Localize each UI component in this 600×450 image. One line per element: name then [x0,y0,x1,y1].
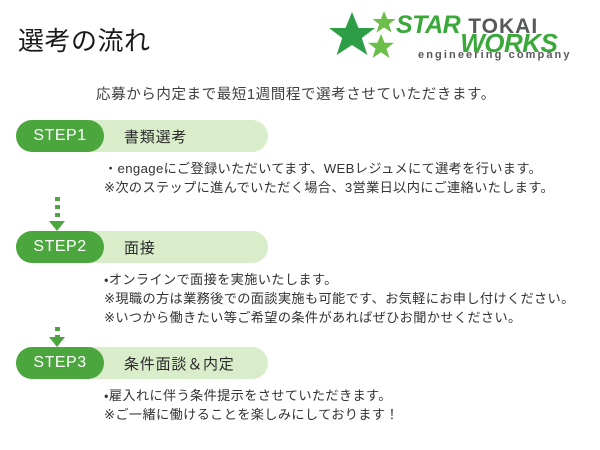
page-header: 選考の流れ STARTOKAI STARWORKS engineering co… [0,0,600,78]
company-logo: STARTOKAI STARWORKS engineering company [326,6,594,66]
step-block-3: STEP3 条件面談＆内定 ・雇入れに伴う条件提示をさせていただきます。 ※ご一… [0,347,600,424]
step-description-line: ※現職の方は業務後での面談実施も可能です、お気軽にお申し付けください。 [104,289,600,308]
logo-tagline: engineering company [418,49,572,61]
step-description-line: ・engageにご登録いただいてます、WEBレジュメにて選考を行います。 [104,159,600,178]
page-subtitle: 応募から内定まで最短1週間程で選考させていただきます。 [96,83,496,104]
star-small-top-icon [373,11,396,33]
connector-arrow-icon [49,337,65,347]
connector-dashed-line [55,197,60,223]
logo-stars-icon [328,10,400,62]
step-description-line: ※ご一緒に働けることを楽しみにしております！ [104,405,600,424]
step-title-1: 書類選考 [124,120,187,152]
step-title-2: 面接 [124,231,156,263]
step-description-line: ※いつから働きたい等ご希望の条件があればぜひお聞かせください。 [104,308,600,327]
step-connector-2-3 [16,327,600,347]
step-badge-3: STEP3 [16,347,104,379]
page-title: 選考の流れ [18,26,151,57]
step-description-line: ・オンラインで面接を実施いたします。 [104,270,600,289]
step-description-line: ※次のステップに進んでいただく場合、3営業日以内にご連絡いたします。 [104,178,600,197]
step-description-line: ・雇入れに伴う条件提示をさせていただきます。 [104,386,600,405]
selection-flow-steps: STEP1 書類選考 ・engageにご登録いただいてます、WEBレジュメにて選… [0,120,600,424]
star-large-icon [329,12,375,55]
step-badge-1: STEP1 [16,120,104,152]
star-small-bottom-icon [368,34,394,58]
step-header-1: STEP1 書類選考 [16,120,268,152]
step-badge-2: STEP2 [16,231,104,263]
step-description-1: ・engageにご登録いただいてます、WEBレジュメにて選考を行います。 ※次の… [104,152,600,197]
connector-arrow-icon [49,221,65,231]
step-description-3: ・雇入れに伴う条件提示をさせていただきます。 ※ご一緒に働けることを楽しみにして… [104,379,600,424]
step-header-2: STEP2 面接 [16,231,268,263]
step-block-1: STEP1 書類選考 ・engageにご登録いただいてます、WEBレジュメにて選… [0,120,600,197]
logo-wordmark: STARTOKAI STARWORKS engineering company [396,6,594,66]
step-block-2: STEP2 面接 ・オンラインで面接を実施いたします。 ※現職の方は業務後での面… [0,231,600,327]
step-header-3: STEP3 条件面談＆内定 [16,347,268,379]
step-description-2: ・オンラインで面接を実施いたします。 ※現職の方は業務後での面談実施も可能です、… [104,263,600,327]
step-connector-1-2 [16,197,600,231]
step-title-3: 条件面談＆内定 [124,347,235,379]
